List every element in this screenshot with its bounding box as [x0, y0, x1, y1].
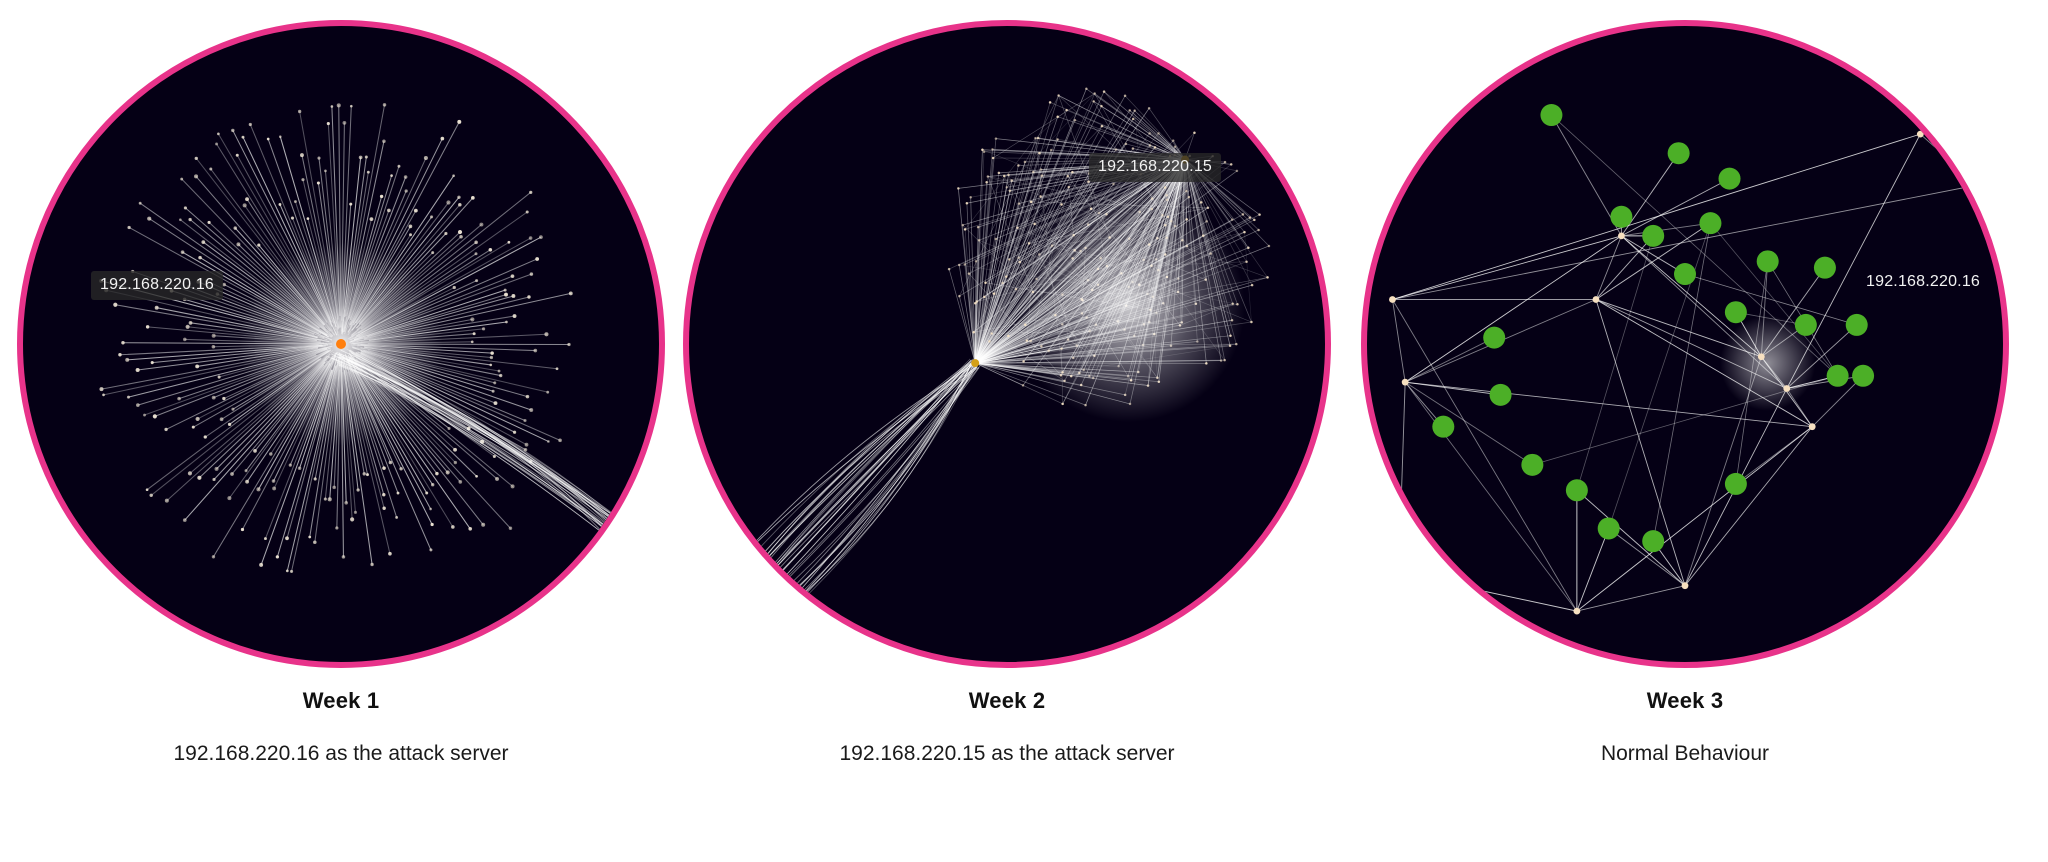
panel-week-3: 192.168.220.16 Week 3 Normal Behaviour	[1344, 0, 2026, 862]
panel-caption-week-3: Normal Behaviour	[1344, 738, 2026, 770]
panel-title-week-1: Week 1	[0, 688, 682, 714]
panel-caption-week-1: 192.168.220.16 as the attack server	[0, 738, 682, 770]
panel-caption-week-2: 192.168.220.15 as the attack server	[666, 738, 1348, 770]
graph-canvas-week-3[interactable]: 192.168.220.16	[1361, 20, 2009, 668]
network-graph-week-3	[1367, 26, 2003, 662]
network-graph-week-1	[23, 26, 659, 662]
panel-week-1: 192.168.220.16 Week 1 192.168.220.16 as …	[0, 0, 682, 862]
graph-canvas-week-1[interactable]: 192.168.220.16	[17, 20, 665, 668]
graph-canvas-week-2[interactable]: 192.168.220.15	[683, 20, 1331, 668]
panel-title-week-2: Week 2	[666, 688, 1348, 714]
panel-week-2: 192.168.220.15 Week 2 192.168.220.15 as …	[666, 0, 1348, 862]
network-comparison-figure: 192.168.220.16 Week 1 192.168.220.16 as …	[0, 0, 2048, 862]
network-graph-week-2	[689, 26, 1325, 662]
panel-title-week-3: Week 3	[1344, 688, 2026, 714]
